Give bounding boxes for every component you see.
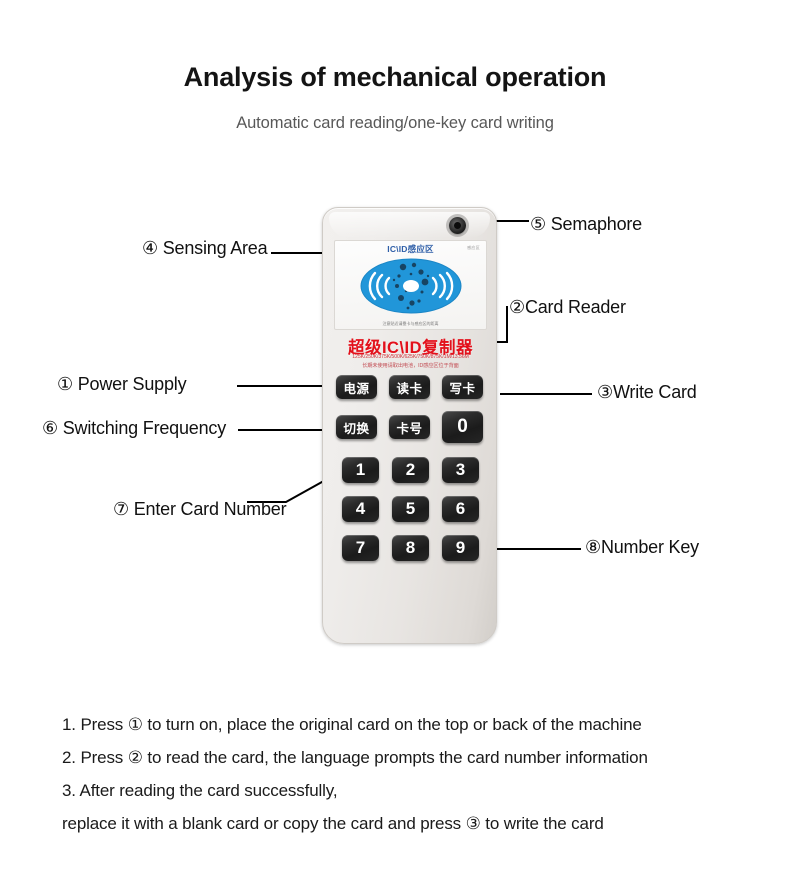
led-inner-dot bbox=[454, 222, 461, 229]
instruction-line-2: 2. Press ② to read the card, the languag… bbox=[62, 741, 752, 774]
semaphore-led-icon bbox=[449, 217, 466, 234]
callout-text-card-reader: Card Reader bbox=[525, 297, 626, 317]
rfid-disc-graphic bbox=[359, 256, 463, 316]
callout-label-semaphore: ⑤ Semaphore bbox=[530, 214, 642, 235]
write-card-key[interactable]: 写卡 bbox=[442, 375, 483, 399]
number-key-4[interactable]: 4 bbox=[342, 496, 379, 522]
instruction-line-3: 3. After reading the card successfully, bbox=[62, 774, 752, 807]
instruction-line-1: 1. Press ① to turn on, place the origina… bbox=[62, 708, 752, 741]
instructions-list: 1. Press ① to turn on, place the origina… bbox=[62, 708, 752, 840]
power-key[interactable]: 电源 bbox=[336, 375, 377, 399]
number-key-5[interactable]: 5 bbox=[392, 496, 429, 522]
device-diagram: IC\ID感应区 感应区 bbox=[0, 0, 790, 700]
number-key-2[interactable]: 2 bbox=[392, 457, 429, 483]
read-card-key[interactable]: 读卡 bbox=[389, 375, 430, 399]
callout-marker-6: ⑥ bbox=[42, 418, 58, 438]
device-spec-frequencies: 125K/250K/375K/500K/625K/750K/875K/1M/13… bbox=[329, 354, 492, 360]
number-key-3[interactable]: 3 bbox=[442, 457, 479, 483]
number-key-6[interactable]: 6 bbox=[442, 496, 479, 522]
callout-label-write-card: ③Write Card bbox=[597, 382, 697, 403]
callout-label-power-supply: ① Power Supply bbox=[57, 374, 186, 395]
number-key-7[interactable]: 7 bbox=[342, 535, 379, 561]
device-spec-note: 长期未使用请取出电池，ID感应区位于背面 bbox=[329, 362, 492, 369]
number-key-1[interactable]: 1 bbox=[342, 457, 379, 483]
callout-label-sensing-area: ④ Sensing Area bbox=[142, 238, 267, 259]
card-copier-device: IC\ID感应区 感应区 bbox=[322, 207, 497, 644]
callout-marker-2: ② bbox=[509, 297, 525, 317]
callout-text-semaphore: Semaphore bbox=[546, 214, 642, 234]
number-key-9[interactable]: 9 bbox=[442, 535, 479, 561]
card-number-key[interactable]: 卡号 bbox=[389, 415, 430, 439]
callout-text-switching-frequency: Switching Frequency bbox=[58, 418, 226, 438]
leader-line-write-card bbox=[500, 393, 592, 395]
callout-text-write-card: Write Card bbox=[613, 382, 697, 402]
callout-marker-7: ⑦ bbox=[113, 499, 129, 519]
callout-label-enter-card-number: ⑦ Enter Card Number bbox=[113, 499, 286, 520]
callout-marker-5: ⑤ bbox=[530, 214, 546, 234]
callout-marker-4: ④ bbox=[142, 238, 158, 258]
callout-label-number-key: ⑧Number Key bbox=[585, 537, 699, 558]
number-key-0[interactable]: 0 bbox=[442, 411, 483, 443]
leader-line-number-key bbox=[489, 548, 581, 550]
number-key-8[interactable]: 8 bbox=[392, 535, 429, 561]
callout-text-sensing-area: Sensing Area bbox=[158, 238, 267, 258]
callout-text-enter-card-number: Enter Card Number bbox=[129, 499, 286, 519]
switch-frequency-key[interactable]: 切换 bbox=[336, 415, 377, 439]
callout-text-power-supply: Power Supply bbox=[73, 374, 186, 394]
instruction-line-4: replace it with a blank card or copy the… bbox=[62, 807, 752, 840]
callout-marker-8: ⑧ bbox=[585, 537, 601, 557]
leader-line-card-reader-vertical bbox=[506, 306, 508, 342]
callout-label-switching-frequency: ⑥ Switching Frequency bbox=[42, 418, 226, 439]
callout-marker-3: ③ bbox=[597, 382, 613, 402]
sensing-area-panel: IC\ID感应区 感应区 bbox=[334, 240, 487, 330]
sensing-area-corner-text: 感应区 bbox=[467, 245, 480, 251]
sensing-area-note: 注意贴近请靠卡与感应区的距离 bbox=[335, 321, 486, 327]
callout-marker-1: ① bbox=[57, 374, 73, 394]
callout-label-card-reader: ②Card Reader bbox=[509, 297, 626, 318]
callout-text-number-key: Number Key bbox=[601, 537, 699, 557]
sensing-area-title: IC\ID感应区 bbox=[335, 243, 486, 255]
